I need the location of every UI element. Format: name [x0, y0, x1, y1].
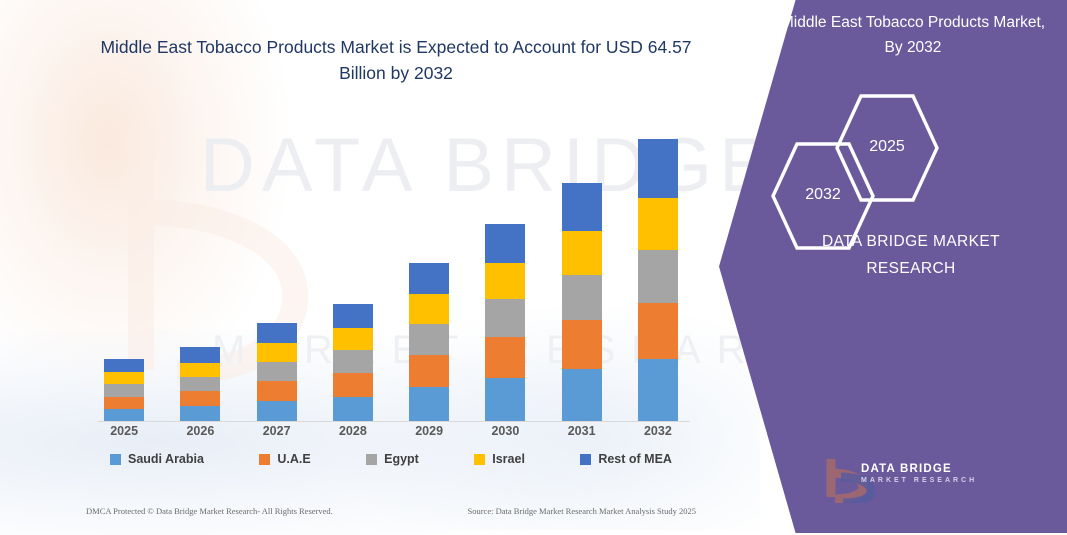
legend-label: Rest of MEA [598, 452, 672, 466]
legend-label: Israel [492, 452, 525, 466]
infographic-root: DATA BRIDGE MARKET RESEARCH Middle East … [0, 0, 1067, 533]
stacked-bar [104, 359, 144, 421]
legend-label: Egypt [384, 452, 419, 466]
panel-logo-name: DATA BRIDGE [861, 462, 952, 476]
side-panel-content: Middle East Tobacco Products Market, By … [719, 0, 1067, 533]
x-axis-label-2026: 2026 [165, 424, 235, 438]
bar-segment-u-a-e [333, 373, 373, 397]
side-panel: Middle East Tobacco Products Market, By … [719, 0, 1067, 533]
bar-segment-israel [562, 231, 602, 275]
x-axis-label-2031: 2031 [547, 424, 617, 438]
stacked-bar [562, 183, 602, 421]
legend-item-egypt[interactable]: Egypt [366, 452, 419, 466]
stacked-bar [180, 347, 220, 421]
bar-segment-egypt [180, 377, 220, 391]
x-axis-label-2025: 2025 [89, 424, 159, 438]
x-axis-label-2029: 2029 [394, 424, 464, 438]
stacked-bar [333, 304, 373, 421]
stacked-bar [409, 263, 449, 421]
legend-item-saudi-arabia[interactable]: Saudi Arabia [110, 452, 204, 466]
bar-segment-rest-of-mea [485, 224, 525, 262]
bar-segment-israel [409, 294, 449, 324]
bar-column-2028 [318, 121, 388, 421]
bar-segment-saudi-arabia [638, 359, 678, 421]
footer-source: Source: Data Bridge Market Research Mark… [467, 506, 696, 516]
chart-bars [86, 121, 696, 421]
bar-segment-israel [485, 263, 525, 300]
bar-segment-u-a-e [257, 381, 297, 401]
legend-swatch-icon [580, 454, 591, 465]
bar-segment-egypt [562, 275, 602, 320]
footer-copyright: DMCA Protected © Data Bridge Market Rese… [86, 506, 333, 516]
bar-column-2025 [89, 121, 159, 421]
page-title: Middle East Tobacco Products Market is E… [86, 34, 706, 86]
stacked-bar-chart [86, 110, 696, 422]
hexagon-2025-label: 2025 [835, 138, 939, 156]
legend-item-rest-of-mea[interactable]: Rest of MEA [580, 452, 672, 466]
x-axis-label-2030: 2030 [470, 424, 540, 438]
bar-column-2032 [623, 121, 693, 421]
x-axis-label-2028: 2028 [318, 424, 388, 438]
bar-segment-egypt [409, 324, 449, 355]
bar-segment-rest-of-mea [104, 359, 144, 372]
bar-segment-saudi-arabia [562, 369, 602, 421]
legend-swatch-icon [366, 454, 377, 465]
bar-segment-israel [333, 328, 373, 350]
side-panel-brand: DATA BRIDGE MARKET RESEARCH [775, 228, 1047, 282]
stacked-bar [485, 224, 525, 421]
bar-segment-egypt [104, 384, 144, 396]
x-axis-line [98, 421, 690, 422]
footer: DMCA Protected © Data Bridge Market Rese… [86, 506, 696, 516]
bar-segment-saudi-arabia [333, 397, 373, 421]
legend-item-u-a-e[interactable]: U.A.E [259, 452, 310, 466]
bar-column-2027 [242, 121, 312, 421]
bar-segment-saudi-arabia [257, 401, 297, 421]
legend-label: U.A.E [277, 452, 310, 466]
side-panel-title: Middle East Tobacco Products Market, By … [779, 10, 1047, 60]
stacked-bar [257, 323, 297, 421]
bar-segment-egypt [333, 350, 373, 373]
stacked-bar [638, 139, 678, 421]
bar-segment-rest-of-mea [638, 139, 678, 198]
legend-item-israel[interactable]: Israel [474, 452, 525, 466]
bar-segment-egypt [638, 250, 678, 302]
bar-segment-israel [180, 363, 220, 377]
bar-column-2026 [165, 121, 235, 421]
bar-segment-rest-of-mea [257, 323, 297, 344]
bar-column-2031 [547, 121, 617, 421]
x-axis-label-2027: 2027 [242, 424, 312, 438]
bar-segment-rest-of-mea [409, 263, 449, 294]
bar-segment-rest-of-mea [180, 347, 220, 362]
bar-segment-egypt [485, 299, 525, 337]
bar-segment-u-a-e [562, 320, 602, 369]
legend-swatch-icon [474, 454, 485, 465]
side-panel-brand-line2: RESEARCH [775, 255, 1047, 282]
bar-segment-rest-of-mea [333, 304, 373, 328]
bar-segment-israel [104, 372, 144, 384]
chart-legend: Saudi ArabiaU.A.EEgyptIsraelRest of MEA [86, 452, 696, 466]
panel-logo-sub: MARKET RESEARCH [861, 477, 977, 484]
bar-segment-israel [638, 198, 678, 250]
bar-segment-saudi-arabia [485, 378, 525, 421]
bar-segment-egypt [257, 362, 297, 381]
bar-segment-israel [257, 343, 297, 362]
bar-segment-u-a-e [409, 355, 449, 387]
legend-swatch-icon [110, 454, 121, 465]
legend-label: Saudi Arabia [128, 452, 204, 466]
bar-segment-u-a-e [485, 337, 525, 378]
bar-segment-saudi-arabia [409, 387, 449, 421]
bar-segment-rest-of-mea [562, 183, 602, 231]
bar-column-2030 [470, 121, 540, 421]
bar-segment-saudi-arabia [180, 406, 220, 421]
x-axis-label-2032: 2032 [623, 424, 693, 438]
x-axis-labels: 20252026202720282029203020312032 [86, 424, 696, 438]
bar-segment-u-a-e [180, 391, 220, 406]
bar-segment-u-a-e [104, 397, 144, 409]
legend-swatch-icon [259, 454, 270, 465]
bar-column-2029 [394, 121, 464, 421]
bar-segment-u-a-e [638, 303, 678, 360]
bar-segment-saudi-arabia [104, 409, 144, 421]
side-panel-brand-line1: DATA BRIDGE MARKET [775, 228, 1047, 255]
